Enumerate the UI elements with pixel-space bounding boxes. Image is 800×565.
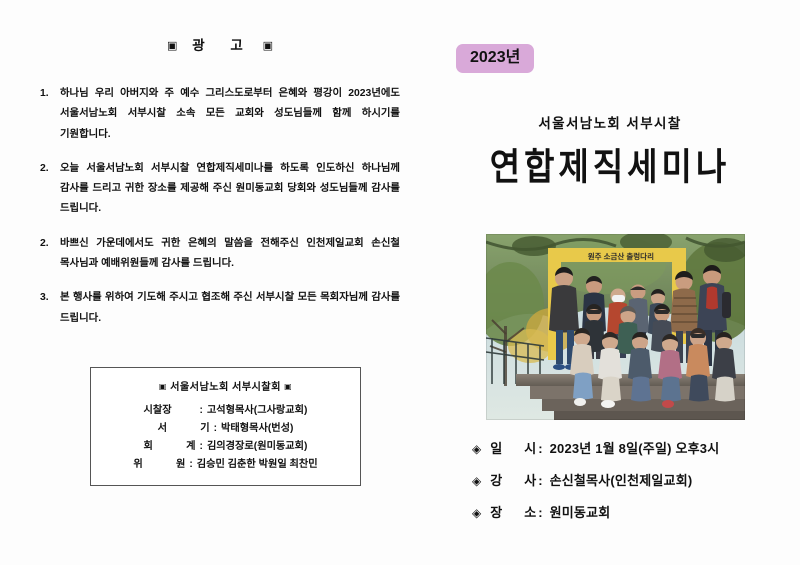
paragraph-text: 하나님 우리 아버지와 주 예수 그리스도로부터 은혜와 평강이 2023년에도… bbox=[60, 84, 400, 145]
ad-heading-char-1: 광 bbox=[192, 38, 209, 53]
info-label-left: 일 bbox=[490, 438, 502, 457]
committee-separator: : bbox=[200, 402, 203, 420]
info-label-right: 시 bbox=[524, 438, 536, 457]
group-photo: 원주 소금산 출렁다리 bbox=[486, 234, 745, 420]
info-label-left: 강 bbox=[490, 470, 502, 489]
committee-role: 시찰장 bbox=[144, 402, 196, 420]
event-subtitle: 서울서남노회 서부시찰 bbox=[420, 112, 800, 132]
info-value: 손신철목사(인천제일교회) bbox=[550, 470, 693, 489]
info-label: 장 소 bbox=[490, 502, 536, 521]
committee-title: ▣ 서울서남노회 서부시찰회 ▣ bbox=[99, 378, 352, 393]
committee-role-right: 기 bbox=[200, 420, 209, 438]
year-badge: 2023년 bbox=[456, 44, 534, 73]
paragraph-number: 1. bbox=[40, 84, 60, 145]
committee-separator: : bbox=[200, 438, 203, 456]
info-label: 일 시 bbox=[490, 438, 536, 457]
committee-role-left: 시찰장 bbox=[144, 402, 172, 420]
left-column: ▣ 광 고 ▣ 1. 하나님 우리 아버지와 주 예수 그리스도로부터 은혜와 … bbox=[40, 34, 400, 494]
info-colon: : bbox=[538, 505, 542, 520]
group-photo-illustration: 원주 소금산 출렁다리 bbox=[486, 234, 745, 420]
paragraph-text: 오늘 서울서남노회 서부시찰 연합제직세미나를 하도록 인도하신 하나님께 감사… bbox=[60, 159, 400, 220]
paragraph-item: 2. 바쁘신 가운데에서도 귀한 은혜의 말씀을 전해주신 인천제일교회 손신철… bbox=[40, 234, 400, 275]
event-main-title: 연합제직세미나 bbox=[420, 137, 800, 191]
committee-role-right: 계 bbox=[186, 438, 195, 456]
info-colon: : bbox=[538, 473, 542, 488]
diamond-bullet-icon: ◈ bbox=[472, 475, 481, 487]
diamond-bullet-icon: ◈ bbox=[472, 443, 481, 455]
committee-role-left: 위 bbox=[133, 456, 142, 474]
committee-title-text: 서울서남노회 서부시찰회 bbox=[170, 382, 281, 393]
info-label-right: 사 bbox=[524, 470, 536, 489]
committee-value: 박태형목사(번성) bbox=[221, 420, 293, 438]
advertisement-heading: ▣ 광 고 ▣ bbox=[40, 34, 400, 54]
paragraph-number: 3. bbox=[40, 288, 60, 329]
paragraph-number: 2. bbox=[40, 159, 60, 220]
arch-sign-text: 원주 소금산 출렁다리 bbox=[588, 251, 654, 261]
committee-role: 서 기 bbox=[158, 420, 210, 438]
committee-row: 회 계 : 김의경장로(원미동교회) bbox=[99, 438, 352, 456]
info-value: 원미동교회 bbox=[550, 502, 611, 521]
committee-role-left: 서 bbox=[158, 420, 167, 438]
committee-role-right: 원 bbox=[176, 456, 185, 474]
info-row-speaker: ◈ 강 사 : 손신철목사(인천제일교회) bbox=[472, 470, 800, 489]
info-row-location: ◈ 장 소 : 원미동교회 bbox=[472, 502, 800, 521]
committee-separator: : bbox=[189, 456, 192, 474]
info-colon: : bbox=[538, 441, 542, 456]
committee-value: 김의경장로(원미동교회) bbox=[207, 438, 308, 456]
committee-role-left: 회 bbox=[144, 438, 153, 456]
info-row-datetime: ◈ 일 시 : 2023년 1월 8일(주일) 오후3시 bbox=[472, 438, 800, 457]
info-label: 강 사 bbox=[490, 470, 536, 489]
square-bullet-icon: ▣ bbox=[263, 40, 273, 52]
committee-row: 시찰장 : 고석형목사(그사랑교회) bbox=[99, 402, 352, 420]
committee-separator: : bbox=[214, 420, 217, 438]
info-value: 2023년 1월 8일(주일) 오후3시 bbox=[550, 438, 720, 457]
committee-row: 위 원 : 김승민 김춘한 박원일 최찬민 bbox=[99, 456, 352, 474]
committee-value: 김승민 김춘한 박원일 최찬민 bbox=[197, 456, 318, 474]
committee-role: 위 원 bbox=[133, 456, 185, 474]
event-info-list: ◈ 일 시 : 2023년 1월 8일(주일) 오후3시 ◈ 강 사 : 손신철… bbox=[472, 438, 800, 534]
paragraph-item: 2. 오늘 서울서남노회 서부시찰 연합제직세미나를 하도록 인도하신 하나님께… bbox=[40, 159, 400, 220]
committee-value: 고석형목사(그사랑교회) bbox=[207, 402, 308, 420]
diamond-bullet-icon: ◈ bbox=[472, 507, 481, 519]
committee-box: ▣ 서울서남노회 서부시찰회 ▣ 시찰장 : 고석형목사(그사랑교회) 서 기 … bbox=[90, 367, 361, 486]
paragraph-item: 1. 하나님 우리 아버지와 주 예수 그리스도로부터 은혜와 평강이 2023… bbox=[40, 84, 400, 145]
paragraph-text: 바쁘신 가운데에서도 귀한 은혜의 말씀을 전해주신 인천제일교회 손신철 목사… bbox=[60, 234, 400, 275]
ad-heading-char-2: 고 bbox=[230, 38, 247, 53]
paragraph-number: 2. bbox=[40, 234, 60, 275]
committee-row: 서 기 : 박태형목사(번성) bbox=[99, 420, 352, 438]
square-bullet-icon: ▣ bbox=[167, 40, 177, 52]
square-bullet-icon: ▣ bbox=[284, 382, 292, 391]
flyer-page: ▣ 광 고 ▣ 1. 하나님 우리 아버지와 주 예수 그리스도로부터 은혜와 … bbox=[0, 0, 800, 565]
info-label-right: 소 bbox=[524, 502, 536, 521]
square-bullet-icon: ▣ bbox=[159, 382, 167, 391]
paragraph-text: 본 행사를 위하여 기도해 주시고 협조해 주신 서부시찰 모든 목회자님께 감… bbox=[60, 288, 400, 329]
committee-role: 회 계 bbox=[144, 438, 196, 456]
paragraph-item: 3. 본 행사를 위하여 기도해 주시고 협조해 주신 서부시찰 모든 목회자님… bbox=[40, 288, 400, 329]
info-label-left: 장 bbox=[490, 502, 502, 521]
right-column: 2023년 서울서남노회 서부시찰 연합제직세미나 bbox=[420, 0, 800, 565]
